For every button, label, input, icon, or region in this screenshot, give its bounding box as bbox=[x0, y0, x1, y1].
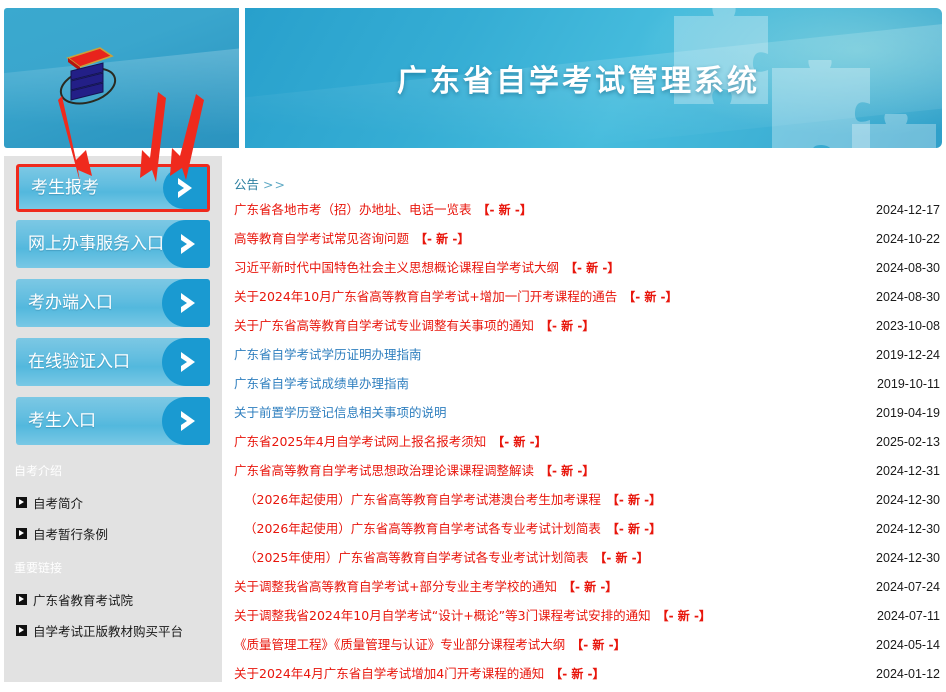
sidebar-link-interim-regulations[interactable]: 自考暂行条例 bbox=[4, 518, 222, 549]
notice-link[interactable]: 广东省自学考试学历证明办理指南 bbox=[234, 344, 422, 363]
notice-date: 2024-12-17 bbox=[862, 203, 940, 217]
sidebar-item-label: 考生入口 bbox=[28, 397, 96, 445]
new-badge: 【- 新 -】 bbox=[607, 493, 661, 507]
notice-row: 习近平新时代中国特色社会主义思想概论课程自学考试大纲【- 新 -】2024-08… bbox=[234, 257, 940, 286]
notice-row: 关于2024年4月广东省自学考试增加4门开考课程的通知【- 新 -】2024-0… bbox=[234, 663, 940, 692]
new-badge: 【- 新 -】 bbox=[478, 203, 532, 217]
notice-row: 广东省自学考试学历证明办理指南2019-12-24 bbox=[234, 344, 940, 373]
sidebar-item-online-service-entrance[interactable]: 网上办事服务入口 bbox=[16, 220, 210, 268]
new-badge: 【- 新 -】 bbox=[540, 319, 594, 333]
notice-row: 关于广东省高等教育自学考试专业调整有关事项的通知【- 新 -】2023-10-0… bbox=[234, 315, 940, 344]
notice-row: 高等教育自学考试常见咨询问题【- 新 -】2024-10-22 bbox=[234, 228, 940, 257]
notice-date: 2024-10-22 bbox=[862, 232, 940, 246]
new-badge: 【- 新 -】 bbox=[623, 290, 677, 304]
notice-date: 2024-08-30 bbox=[862, 290, 940, 304]
notice-link[interactable]: 广东省高等教育自学考试思想政治理论课课程调整解读【- 新 -】 bbox=[234, 460, 594, 479]
chevron-right-icon bbox=[175, 176, 197, 200]
new-badge: 【- 新 -】 bbox=[540, 464, 594, 478]
notice-date: 2024-12-30 bbox=[862, 493, 940, 507]
notice-row: 关于2024年10月广东省高等教育自学考试+增加一门开考课程的通告【- 新 -】… bbox=[234, 286, 940, 315]
notice-link[interactable]: 高等教育自学考试常见咨询问题【- 新 -】 bbox=[234, 228, 469, 247]
notice-link[interactable]: 广东省2025年4月自学考试网上报名报考须知【- 新 -】 bbox=[234, 431, 547, 450]
notice-date: 2023-10-08 bbox=[862, 319, 940, 333]
notice-link[interactable]: 关于调整我省2024年10月自学考试“设计+概论”等3门课程考试安排的通知【- … bbox=[234, 605, 711, 624]
notice-link[interactable]: 关于前置学历登记信息相关事项的说明 bbox=[234, 402, 447, 421]
new-badge: 【- 新 -】 bbox=[415, 232, 469, 246]
sidebar-link-label: 自学考试正版教材购买平台 bbox=[33, 621, 183, 640]
arrow-bullet-icon bbox=[16, 625, 27, 636]
notice-date: 2024-01-12 bbox=[862, 667, 940, 681]
sidebar-nav: 考生报考 网上办事服务入口 考办端入口 在线验证入口 bbox=[4, 156, 222, 445]
notice-more-chevron: >> bbox=[263, 177, 286, 192]
page-header: 广东省自学考试管理系统 bbox=[0, 0, 946, 152]
notice-link[interactable]: 关于2024年4月广东省自学考试增加4门开考课程的通知【- 新 -】 bbox=[234, 663, 605, 682]
sidebar-item-candidate-entrance[interactable]: 考生入口 bbox=[16, 397, 210, 445]
guangdong-self-study-exam-logo bbox=[54, 36, 126, 118]
sidebar-link-label: 自考暂行条例 bbox=[33, 524, 108, 543]
sidebar-item-exam-registration[interactable]: 考生报考 bbox=[16, 164, 210, 212]
new-badge: 【- 新 -】 bbox=[492, 435, 546, 449]
notice-date: 2024-12-30 bbox=[862, 551, 940, 565]
notice-row: 关于调整我省高等教育自学考试+部分专业主考学校的通知【- 新 -】2024-07… bbox=[234, 576, 940, 605]
new-badge: 【- 新 -】 bbox=[657, 609, 711, 623]
sidebar-item-exam-office-entrance[interactable]: 考办端入口 bbox=[16, 279, 210, 327]
notice-link[interactable]: 习近平新时代中国特色社会主义思想概论课程自学考试大纲【- 新 -】 bbox=[234, 257, 619, 276]
notice-date: 2024-05-14 bbox=[862, 638, 940, 652]
notice-row: 广东省自学考试成绩单办理指南2019-10-11 bbox=[234, 373, 940, 402]
notice-section-header[interactable]: 公告>> bbox=[230, 156, 286, 199]
sidebar-link-label: 自考简介 bbox=[33, 493, 83, 512]
notice-date: 2025-02-13 bbox=[862, 435, 940, 449]
sidebar-link-textbook-purchase-platform[interactable]: 自学考试正版教材购买平台 bbox=[4, 615, 222, 646]
notice-row: 关于调整我省2024年10月自学考试“设计+概论”等3门课程考试安排的通知【- … bbox=[234, 605, 940, 634]
new-badge: 【- 新 -】 bbox=[571, 638, 625, 652]
page-title: 广东省自学考试管理系统 bbox=[245, 8, 942, 148]
notice-row: （2026年起使用）广东省高等教育自学考试港澳台考生加考课程【- 新 -】202… bbox=[234, 489, 940, 518]
chevron-right-icon bbox=[178, 350, 200, 374]
notice-date: 2024-08-30 bbox=[862, 261, 940, 275]
sidebar-link-label: 广东省教育考试院 bbox=[33, 590, 133, 609]
notice-link[interactable]: （2026年起使用）广东省高等教育自学考试各专业考试计划简表【- 新 -】 bbox=[234, 518, 661, 537]
arrow-bullet-icon bbox=[16, 594, 27, 605]
new-badge: 【- 新 -】 bbox=[550, 667, 604, 681]
notice-link[interactable]: 关于2024年10月广东省高等教育自学考试+增加一门开考课程的通告【- 新 -】 bbox=[234, 286, 678, 305]
header-title-panel: 广东省自学考试管理系统 bbox=[245, 8, 942, 148]
notice-link[interactable]: （2026年起使用）广东省高等教育自学考试港澳台考生加考课程【- 新 -】 bbox=[234, 489, 661, 508]
notice-row: 广东省各地市考（招）办地址、电话一览表【- 新 -】2024-12-17 bbox=[234, 199, 940, 228]
notice-row: 关于前置学历登记信息相关事项的说明2019-04-19 bbox=[234, 402, 940, 431]
arrow-bullet-icon bbox=[16, 497, 27, 508]
notice-row: 广东省2025年4月自学考试网上报名报考须知【- 新 -】2025-02-13 bbox=[234, 431, 940, 460]
sidebar-section-heading-links: 重要链接 bbox=[4, 553, 222, 582]
new-badge: 【- 新 -】 bbox=[594, 551, 648, 565]
notice-date: 2024-12-30 bbox=[862, 522, 940, 536]
new-badge: 【- 新 -】 bbox=[565, 261, 619, 275]
notice-row: 广东省高等教育自学考试思想政治理论课课程调整解读【- 新 -】2024-12-3… bbox=[234, 460, 940, 489]
notice-link[interactable]: 广东省各地市考（招）办地址、电话一览表【- 新 -】 bbox=[234, 199, 532, 218]
notice-date: 2019-04-19 bbox=[862, 406, 940, 420]
notice-date: 2024-12-31 bbox=[862, 464, 940, 478]
notice-list: 广东省各地市考（招）办地址、电话一览表【- 新 -】2024-12-17高等教育… bbox=[230, 199, 946, 692]
sidebar-item-online-verification-entrance[interactable]: 在线验证入口 bbox=[16, 338, 210, 386]
chevron-right-icon bbox=[178, 291, 200, 315]
new-badge: 【- 新 -】 bbox=[563, 580, 617, 594]
new-badge: 【- 新 -】 bbox=[607, 522, 661, 536]
chevron-right-icon bbox=[178, 232, 200, 256]
sidebar-item-label: 考生报考 bbox=[31, 167, 99, 209]
notice-row: （2026年起使用）广东省高等教育自学考试各专业考试计划简表【- 新 -】202… bbox=[234, 518, 940, 547]
sidebar-section-heading-intro: 自考介绍 bbox=[4, 456, 222, 485]
sidebar-item-label: 网上办事服务入口 bbox=[28, 220, 164, 268]
notice-row: （2025年使用）广东省高等教育自学考试各专业考试计划简表【- 新 -】2024… bbox=[234, 547, 940, 576]
arrow-bullet-icon bbox=[16, 528, 27, 539]
notice-date: 2024-07-24 bbox=[862, 580, 940, 594]
notice-link[interactable]: 《质量管理工程》《质量管理与认证》专业部分课程考试大纲【- 新 -】 bbox=[234, 634, 626, 653]
notice-link[interactable]: 广东省自学考试成绩单办理指南 bbox=[234, 373, 409, 392]
notice-section-title: 公告 bbox=[234, 177, 259, 192]
header-logo-panel bbox=[4, 8, 239, 148]
notice-row: 《质量管理工程》《质量管理与认证》专业部分课程考试大纲【- 新 -】2024-0… bbox=[234, 634, 940, 663]
notice-link[interactable]: 关于调整我省高等教育自学考试+部分专业主考学校的通知【- 新 -】 bbox=[234, 576, 617, 595]
notice-date: 2024-07-11 bbox=[863, 609, 940, 623]
notice-date: 2019-10-11 bbox=[863, 377, 940, 391]
sidebar: 考生报考 网上办事服务入口 考办端入口 在线验证入口 bbox=[4, 156, 222, 682]
notice-link[interactable]: 关于广东省高等教育自学考试专业调整有关事项的通知【- 新 -】 bbox=[234, 315, 594, 334]
chevron-right-icon bbox=[178, 409, 200, 433]
sidebar-link-gd-education-exam-authority[interactable]: 广东省教育考试院 bbox=[4, 584, 222, 615]
sidebar-item-label: 考办端入口 bbox=[28, 279, 113, 327]
notice-link[interactable]: （2025年使用）广东省高等教育自学考试各专业考试计划简表【- 新 -】 bbox=[234, 547, 649, 566]
sidebar-link-self-study-intro[interactable]: 自考简介 bbox=[4, 487, 222, 518]
main-content: 公告>> 广东省各地市考（招）办地址、电话一览表【- 新 -】2024-12-1… bbox=[230, 156, 946, 682]
notice-date: 2019-12-24 bbox=[862, 348, 940, 362]
sidebar-item-label: 在线验证入口 bbox=[28, 338, 130, 386]
